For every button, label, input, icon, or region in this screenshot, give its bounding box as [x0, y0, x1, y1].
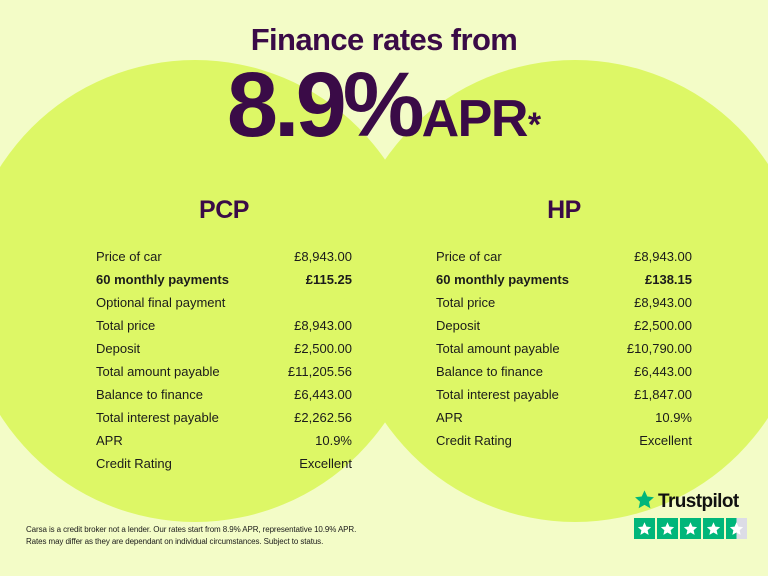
table-row: Optional final payment: [88, 291, 360, 314]
table-row: Total price£8,943.00: [428, 291, 700, 314]
row-label: Balance to finance: [96, 383, 203, 406]
row-value: £10,790.00: [627, 337, 692, 360]
row-value: £8,943.00: [634, 291, 692, 314]
star-icon: [634, 489, 655, 515]
disclaimer-line-1: Carsa is a credit broker not a lender. O…: [26, 524, 456, 536]
plan-hp-rows: Price of car£8,943.0060 monthly payments…: [428, 245, 700, 452]
plan-pcp-title: PCP: [88, 196, 360, 225]
row-label: Total amount payable: [436, 337, 560, 360]
row-value: £6,443.00: [634, 360, 692, 383]
trustpilot-stars: [634, 518, 752, 539]
table-row: Total interest payable£2,262.56: [88, 406, 360, 429]
star-full-icon: [634, 518, 655, 539]
table-row: 60 monthly payments£115.25: [88, 268, 360, 291]
trustpilot-widget[interactable]: Trustpilot: [634, 490, 752, 539]
disclaimer: Carsa is a credit broker not a lender. O…: [26, 524, 456, 548]
row-label: Price of car: [96, 245, 162, 268]
row-label: Total amount payable: [96, 360, 220, 383]
row-label: 60 monthly payments: [96, 268, 229, 291]
table-row: Total interest payable£1,847.00: [428, 383, 700, 406]
plan-hp: HP Price of car£8,943.0060 monthly payme…: [428, 196, 700, 452]
table-row: Price of car£8,943.00: [88, 245, 360, 268]
table-row: Credit RatingExcellent: [88, 452, 360, 475]
row-value: £2,500.00: [634, 314, 692, 337]
row-label: Deposit: [96, 337, 140, 360]
table-row: 60 monthly payments£138.15: [428, 268, 700, 291]
row-value: £1,847.00: [634, 383, 692, 406]
table-row: APR10.9%: [88, 429, 360, 452]
trustpilot-wordmark: Trustpilot: [658, 491, 739, 513]
star-full-icon: [680, 518, 701, 539]
plan-hp-title: HP: [428, 196, 700, 225]
row-label: Credit Rating: [436, 429, 512, 452]
row-label: Deposit: [436, 314, 480, 337]
row-label: Total price: [436, 291, 495, 314]
page-title: Finance rates from: [0, 22, 768, 58]
row-label: Total interest payable: [96, 406, 219, 429]
table-row: Price of car£8,943.00: [428, 245, 700, 268]
table-row: Deposit£2,500.00: [428, 314, 700, 337]
star-half-icon: [726, 518, 747, 539]
plan-pcp: PCP Price of car£8,943.0060 monthly paym…: [88, 196, 360, 475]
row-label: Price of car: [436, 245, 502, 268]
table-row: Deposit£2,500.00: [88, 337, 360, 360]
table-row: Credit RatingExcellent: [428, 429, 700, 452]
table-row: Total amount payable£11,205.56: [88, 360, 360, 383]
plan-pcp-rows: Price of car£8,943.0060 monthly payments…: [88, 245, 360, 475]
trustpilot-brand: Trustpilot: [634, 490, 752, 514]
row-value: 10.9%: [315, 429, 352, 452]
table-row: Total amount payable£10,790.00: [428, 337, 700, 360]
header: Finance rates from 8.9% APR *: [0, 0, 768, 155]
row-value: Excellent: [639, 429, 692, 452]
row-value: Excellent: [299, 452, 352, 475]
row-value: £8,943.00: [294, 314, 352, 337]
row-value: £8,943.00: [634, 245, 692, 268]
row-value: £8,943.00: [294, 245, 352, 268]
row-label: Total price: [96, 314, 155, 337]
row-value: £138.15: [645, 268, 692, 291]
row-value: £6,443.00: [294, 383, 352, 406]
row-value: £2,500.00: [294, 337, 352, 360]
rate-unit: APR: [422, 89, 527, 149]
row-label: 60 monthly payments: [436, 268, 569, 291]
row-label: Balance to finance: [436, 360, 543, 383]
row-value: £11,205.56: [288, 360, 352, 383]
row-label: APR: [436, 406, 463, 429]
star-full-icon: [657, 518, 678, 539]
table-row: Balance to finance£6,443.00: [428, 360, 700, 383]
row-label: APR: [96, 429, 123, 452]
rate-value: 8.9%: [227, 56, 421, 155]
disclaimer-line-2: Rates may differ as they are dependant o…: [26, 536, 456, 548]
row-label: Total interest payable: [436, 383, 559, 406]
table-row: APR10.9%: [428, 406, 700, 429]
row-label: Optional final payment: [96, 291, 225, 314]
row-value: £2,262.56: [294, 406, 352, 429]
table-row: Balance to finance£6,443.00: [88, 383, 360, 406]
row-value: £115.25: [306, 268, 352, 291]
row-label: Credit Rating: [96, 452, 172, 475]
rate-asterisk: *: [528, 106, 541, 145]
table-row: Total price£8,943.00: [88, 314, 360, 337]
rate-headline: 8.9% APR *: [0, 56, 768, 155]
star-full-icon: [703, 518, 724, 539]
row-value: 10.9%: [655, 406, 692, 429]
poster-canvas: Finance rates from 8.9% APR * PCP Price …: [0, 0, 768, 576]
